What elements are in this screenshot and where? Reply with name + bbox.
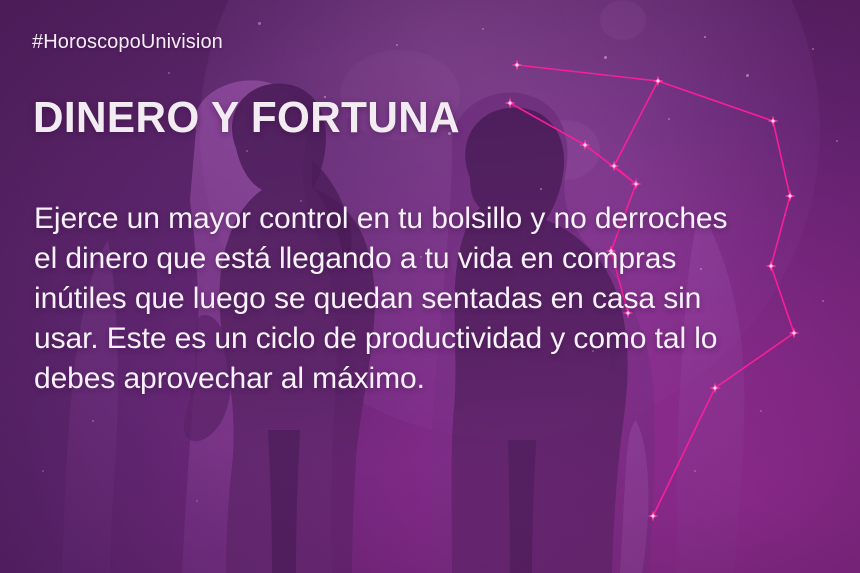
page-title: DINERO Y FORTUNA <box>33 94 460 142</box>
hashtag-label: #HoroscopoUnivision <box>32 31 223 54</box>
horoscope-body-text: Ejerce un mayor control en tu bolsillo y… <box>34 199 834 399</box>
body-line: el dinero que está llegando a tu vida en… <box>34 239 834 279</box>
body-line: usar. Este es un ciclo de productividad … <box>34 319 834 359</box>
body-line: inútiles que luego se quedan sentadas en… <box>34 279 834 319</box>
horoscope-card: #HoroscopoUnivision DINERO Y FORTUNA Eje… <box>0 0 860 573</box>
text-content: #HoroscopoUnivision DINERO Y FORTUNA Eje… <box>0 0 860 573</box>
body-line: debes aprovechar al máximo. <box>34 359 834 399</box>
body-line: Ejerce un mayor control en tu bolsillo y… <box>34 199 834 239</box>
